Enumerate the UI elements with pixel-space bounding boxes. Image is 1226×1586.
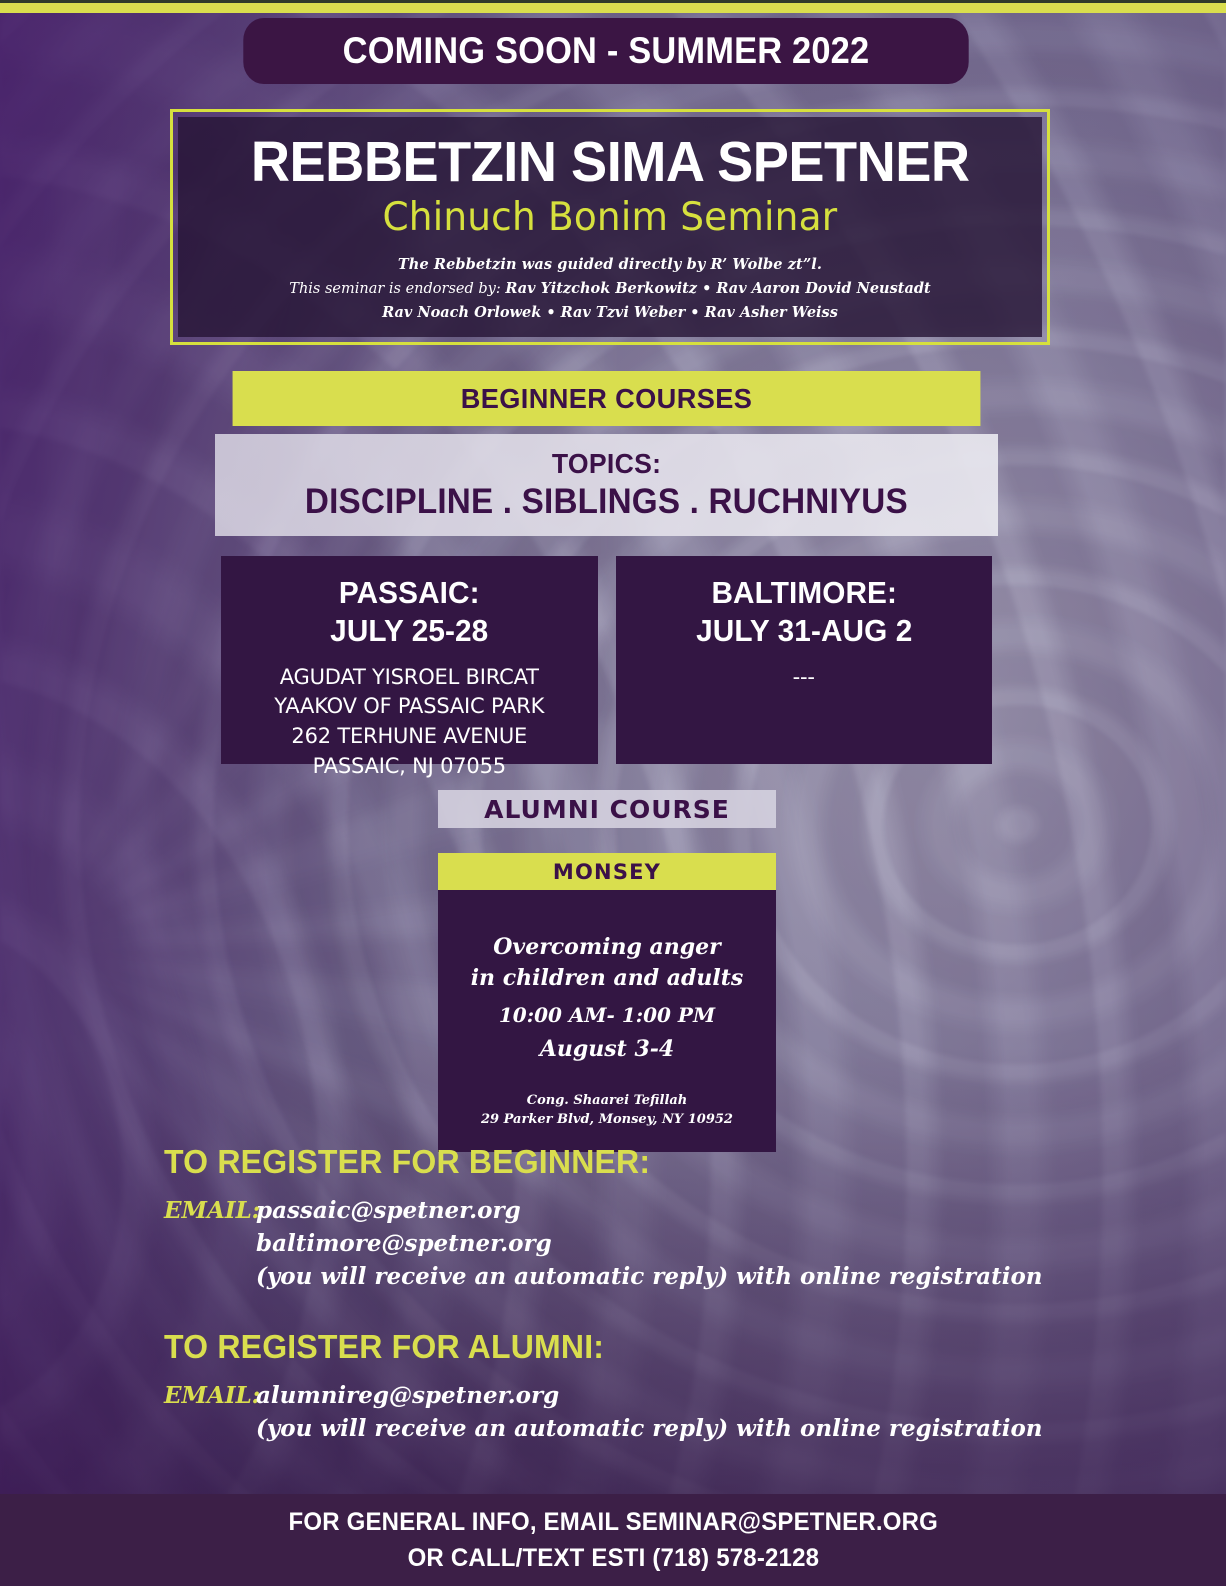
alumni-topic-line-2: in children and adults <box>438 963 776 994</box>
flyer-poster: COMING SOON - SUMMER 2022 REBBETZIN SIMA… <box>0 0 1226 1586</box>
endorsement-lead: This seminar is endorsed by: <box>289 281 500 297</box>
guidance-note: The Rebbetzin was guided directly by R’ … <box>398 256 822 273</box>
address-line: 262 TERHUNE AVENUE <box>221 722 598 752</box>
email-address-baltimore[interactable]: baltimore@spetner.org <box>256 1230 552 1257</box>
alumni-city-label: MONSEY <box>438 853 776 890</box>
footer-contact-bar: FOR GENERAL INFO, EMAIL SEMINAR@SPETNER.… <box>0 1494 1226 1586</box>
location-dates: JULY 31-AUG 2 <box>623 612 984 650</box>
footer-phone-line: OR CALL/TEXT ESTI (718) 578-2128 <box>407 1540 819 1576</box>
registration-alumni-block: TO REGISTER FOR ALUMNI: EMAIL: alumnireg… <box>164 1328 1043 1448</box>
address-line: PASSAIC, NJ 07055 <box>221 752 598 782</box>
registration-email-row: EMAIL: alumnireg@spetner.org <box>164 1382 1043 1409</box>
address-line: YAAKOV OF PASSAIC PARK <box>221 692 598 722</box>
registration-beginner-lines: EMAIL: passaic@spetner.org baltimore@spe… <box>164 1197 1043 1290</box>
beginner-locations-row: PASSAIC: JULY 25-28 AGUDAT YISROEL BIRCA… <box>221 556 992 764</box>
poster-content: COMING SOON - SUMMER 2022 REBBETZIN SIMA… <box>0 0 1226 1586</box>
registration-alumni-lines: EMAIL: alumnireg@spetner.org (you will r… <box>164 1382 1043 1442</box>
title-frame: REBBETZIN SIMA SPETNER Chinuch Bonim Sem… <box>170 109 1050 345</box>
beginner-courses-heading: BEGINNER COURSES <box>233 371 981 426</box>
email-label: EMAIL: <box>164 1197 256 1224</box>
registration-note-row: (you will receive an automatic reply) wi… <box>164 1263 1043 1290</box>
endorsement-line-1: This seminar is endorsed by: Rav Yitzcho… <box>289 280 930 297</box>
alumni-venue-address: 29 Parker Blvd, Monsey, NY 10952 <box>438 1111 776 1130</box>
location-card-passaic: PASSAIC: JULY 25-28 AGUDAT YISROEL BIRCA… <box>221 556 598 764</box>
topics-panel: TOPICS: DISCIPLINE . SIBLINGS . RUCHNIYU… <box>215 434 998 536</box>
email-address-passaic[interactable]: passaic@spetner.org <box>256 1197 521 1224</box>
page-title: REBBETZIN SIMA SPETNER <box>251 133 970 191</box>
endorsement-names-1: Rav Yitzchok Berkowitz • Rav Aaron Dovid… <box>505 280 930 297</box>
registration-beginner-block: TO REGISTER FOR BEGINNER: EMAIL: passaic… <box>164 1143 1043 1296</box>
registration-email-row: EMAIL: passaic@spetner.org <box>164 1197 1043 1224</box>
location-city: BALTIMORE: <box>623 574 984 612</box>
topics-label: TOPICS: <box>552 448 661 480</box>
registration-note-row: (you will receive an automatic reply) wi… <box>164 1415 1043 1442</box>
location-address: AGUDAT YISROEL BIRCAT YAAKOV OF PASSAIC … <box>221 663 598 782</box>
alumni-venue-name: Cong. Shaarei Tefillah <box>438 1092 776 1111</box>
registration-alumni-heading: TO REGISTER FOR ALUMNI: <box>164 1328 1016 1366</box>
alumni-topic-line-1: Overcoming anger <box>438 932 776 963</box>
location-card-baltimore: BALTIMORE: JULY 31-AUG 2 --- <box>616 556 993 764</box>
alumni-dates: August 3-4 <box>438 1036 776 1062</box>
alumni-time: 10:00 AM- 1:00 PM <box>438 1003 776 1027</box>
address-line: AGUDAT YISROEL BIRCAT <box>221 663 598 693</box>
alumni-topic: Overcoming anger in children and adults <box>438 932 776 994</box>
email-address-alumni[interactable]: alumnireg@spetner.org <box>256 1382 559 1409</box>
topics-list: DISCIPLINE . SIBLINGS . RUCHNIYUS <box>305 482 908 522</box>
location-dates: JULY 25-28 <box>229 612 590 650</box>
top-edge-line <box>0 0 1226 3</box>
endorsement-names-2: Rav Noach Orlowek • Rav Tzvi Weber • Rav… <box>382 304 838 321</box>
email-label: EMAIL: <box>164 1382 256 1409</box>
registration-note: (you will receive an automatic reply) wi… <box>256 1263 1043 1290</box>
location-address: --- <box>616 663 993 693</box>
footer-email-line: FOR GENERAL INFO, EMAIL SEMINAR@SPETNER.… <box>288 1504 937 1540</box>
title-inner-panel: REBBETZIN SIMA SPETNER Chinuch Bonim Sem… <box>178 117 1042 337</box>
registration-email-row: baltimore@spetner.org <box>164 1230 1043 1257</box>
alumni-monsey-card: MONSEY Overcoming anger in children and … <box>438 853 776 1152</box>
alumni-venue: Cong. Shaarei Tefillah 29 Parker Blvd, M… <box>438 1092 776 1130</box>
alumni-course-heading: ALUMNI COURSE <box>438 790 776 828</box>
registration-beginner-heading: TO REGISTER FOR BEGINNER: <box>164 1143 1016 1181</box>
registration-note: (you will receive an automatic reply) wi… <box>256 1415 1043 1442</box>
location-city: PASSAIC: <box>229 574 590 612</box>
address-line: --- <box>616 663 993 693</box>
coming-soon-banner: COMING SOON - SUMMER 2022 <box>243 18 968 84</box>
page-subtitle: Chinuch Bonim Seminar <box>383 195 838 240</box>
alumni-details: Overcoming anger in children and adults … <box>438 890 776 1130</box>
